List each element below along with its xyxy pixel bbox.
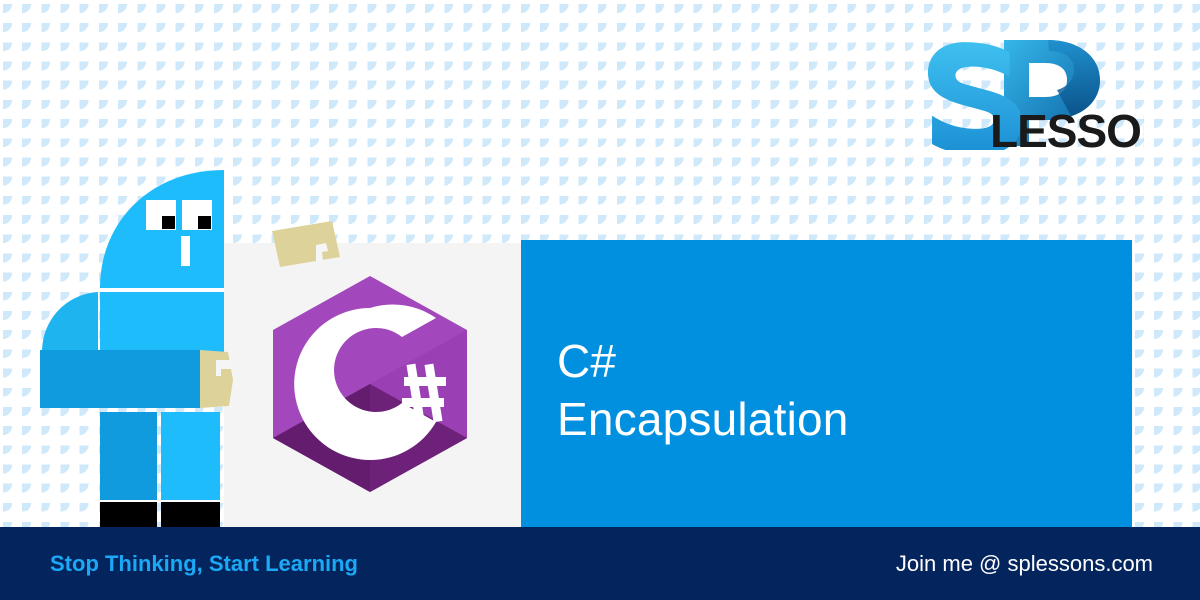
character-torso-left-shoulder (42, 292, 98, 352)
character-leg-right (161, 412, 220, 500)
character-torso (100, 292, 224, 352)
logo-word-lessons: LESSONS (990, 105, 1144, 150)
character-hand (200, 350, 233, 408)
character-foot-right (161, 502, 220, 530)
robot-character (40, 170, 240, 530)
content-card-blue: C# Encapsulation (521, 240, 1132, 527)
csharp-hexagon-logo (258, 272, 482, 496)
title-block: C# Encapsulation (557, 332, 1097, 448)
splessons-logo[interactable]: LESSONS (912, 28, 1144, 150)
character-foot-left (100, 502, 157, 530)
footer-join-link[interactable]: Join me @ splessons.com (896, 551, 1153, 577)
footer-bar: Stop Thinking, Start Learning Join me @ … (0, 527, 1200, 600)
character-pupil-right (198, 216, 211, 229)
footer-tagline: Stop Thinking, Start Learning (50, 551, 358, 577)
page-title-line-2: Encapsulation (557, 390, 1097, 448)
character-arm (40, 350, 200, 408)
character-hand-secondary (266, 221, 346, 267)
character-nose (181, 236, 190, 266)
character-pupil-left (162, 216, 175, 229)
character-leg-left (100, 412, 157, 500)
page-title-line-1: C# (557, 332, 1097, 390)
banner-root: LESSONS C# Encapsulation (0, 0, 1200, 600)
